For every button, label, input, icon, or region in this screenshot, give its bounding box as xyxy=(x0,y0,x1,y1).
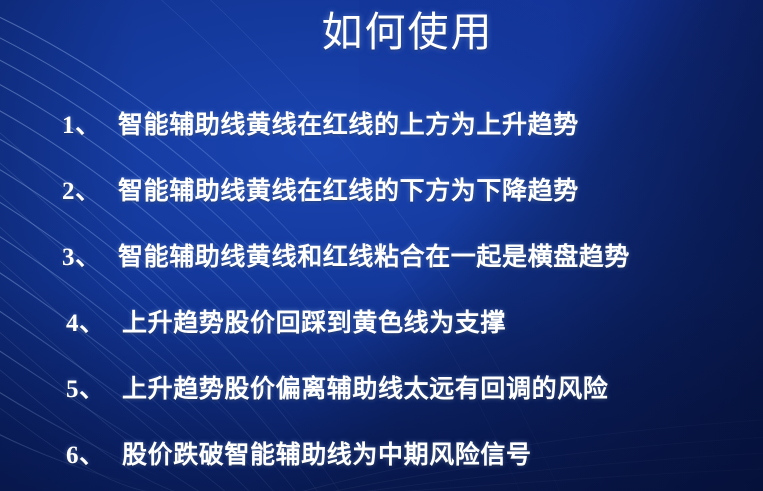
list-item-text: 股价跌破智能辅助线为中期风险信号 xyxy=(122,435,532,471)
list-item: 4、 上升趋势股价回踩到黄色线为支撑 xyxy=(0,303,763,369)
list-item: 2、 智能辅助线黄线在红线的下方为下降趋势 xyxy=(0,171,763,237)
list-item: 5、 上升趋势股价偏离辅助线太远有回调的风险 xyxy=(0,369,763,435)
list-item-number: 3、 xyxy=(62,237,118,273)
list-item-number: 5、 xyxy=(66,369,122,405)
list-item-number: 4、 xyxy=(66,303,122,339)
list-item-text: 智能辅助线黄线在红线的上方为上升趋势 xyxy=(118,105,579,141)
slide-title: 如何使用 xyxy=(0,8,763,56)
list-item: 3、 智能辅助线黄线和红线粘合在一起是横盘趋势 xyxy=(0,237,763,303)
list-item: 6、 股价跌破智能辅助线为中期风险信号 xyxy=(0,435,763,491)
list-item-number: 6、 xyxy=(66,435,122,471)
list-item-text: 智能辅助线黄线在红线的下方为下降趋势 xyxy=(118,171,579,207)
list-item-text: 上升趋势股价偏离辅助线太远有回调的风险 xyxy=(122,369,608,405)
list-item-text: 智能辅助线黄线和红线粘合在一起是横盘趋势 xyxy=(118,237,630,273)
list-item: 1、 智能辅助线黄线在红线的上方为上升趋势 xyxy=(0,105,763,171)
list-item-number: 2、 xyxy=(62,171,118,207)
list-item-number: 1、 xyxy=(62,105,118,141)
list-item-text: 上升趋势股价回踩到黄色线为支撑 xyxy=(122,303,506,339)
bullet-list: 1、 智能辅助线黄线在红线的上方为上升趋势 2、 智能辅助线黄线在红线的下方为下… xyxy=(0,105,763,491)
presentation-slide: 如何使用 1、 智能辅助线黄线在红线的上方为上升趋势 2、 智能辅助线黄线在红线… xyxy=(0,0,763,491)
